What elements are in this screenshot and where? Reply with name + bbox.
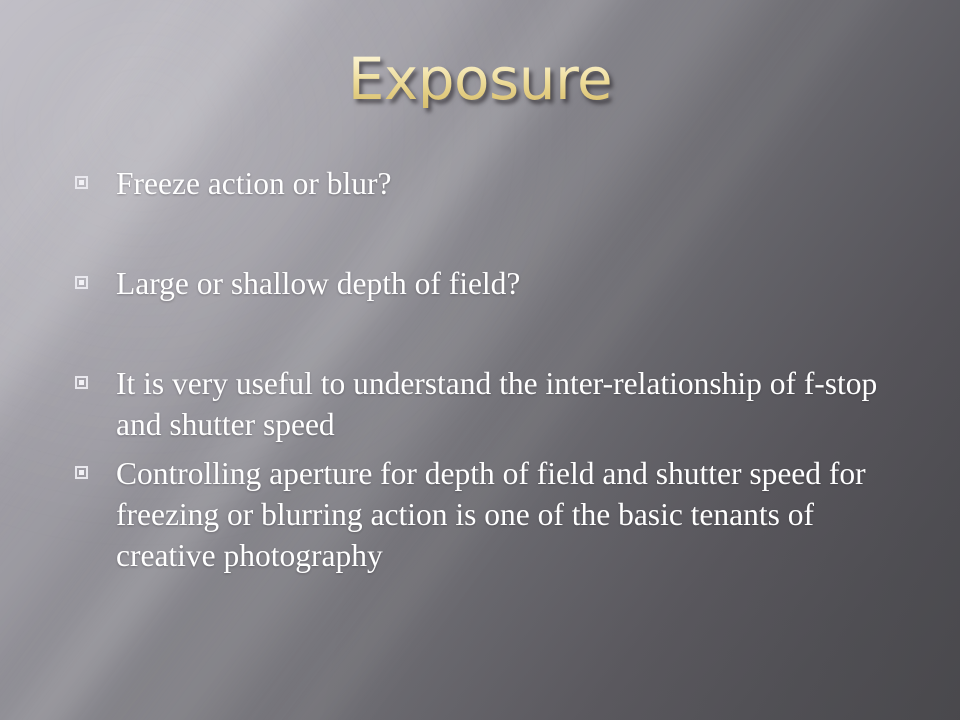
content-placeholder: Freeze action or blur? Large or shallow … xyxy=(63,163,913,576)
square-bullet-icon xyxy=(75,176,88,189)
bullet-item: Freeze action or blur? xyxy=(63,163,913,204)
bullet-item: Large or shallow depth of field? xyxy=(63,263,913,304)
square-bullet-icon xyxy=(75,466,88,479)
square-bullet-icon xyxy=(75,276,88,289)
bullet-text: Controlling aperture for depth of field … xyxy=(116,453,913,576)
presentation-slide: Exposure Freeze action or blur? Large or… xyxy=(0,0,960,720)
bullet-text: Large or shallow depth of field? xyxy=(116,263,913,304)
slide-title: Exposure xyxy=(348,50,613,108)
title-placeholder: Exposure xyxy=(0,50,960,108)
square-bullet-icon xyxy=(75,376,88,389)
bullet-item: It is very useful to understand the inte… xyxy=(63,363,913,445)
bullet-item: Controlling aperture for depth of field … xyxy=(63,453,913,576)
bullet-text: It is very useful to understand the inte… xyxy=(116,363,913,445)
bullet-text: Freeze action or blur? xyxy=(116,163,913,204)
